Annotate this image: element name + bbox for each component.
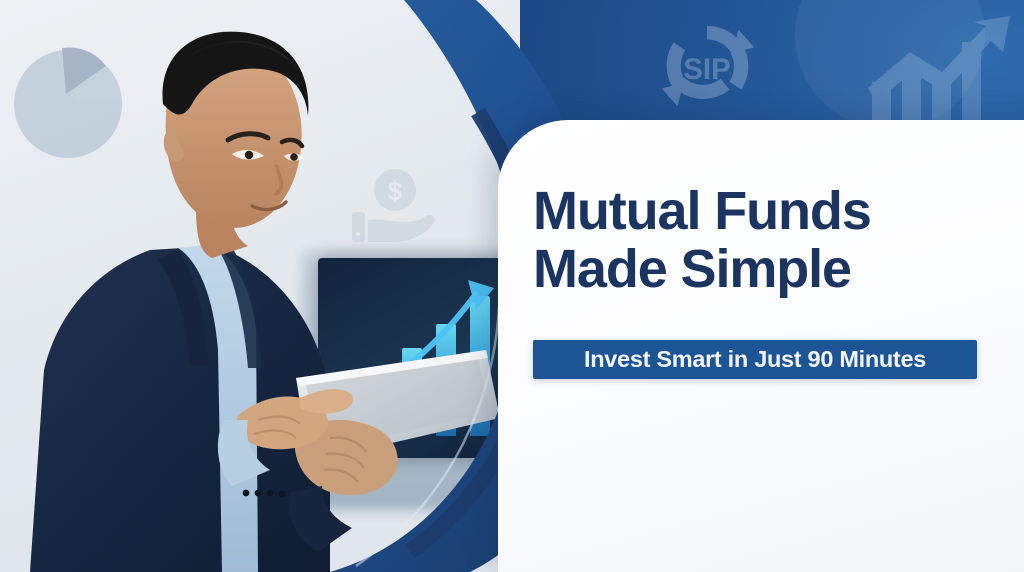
subtitle-banner: Invest Smart in Just 90 Minutes: [533, 340, 977, 379]
page-title: Mutual Funds Made Simple: [533, 186, 1003, 296]
headline-line-1: Mutual Funds: [533, 181, 871, 241]
subtitle-text: Invest Smart in Just 90 Minutes: [584, 346, 926, 373]
marketing-banner: SIP: [0, 0, 1024, 572]
headline-line-2: Made Simple: [533, 244, 1003, 296]
